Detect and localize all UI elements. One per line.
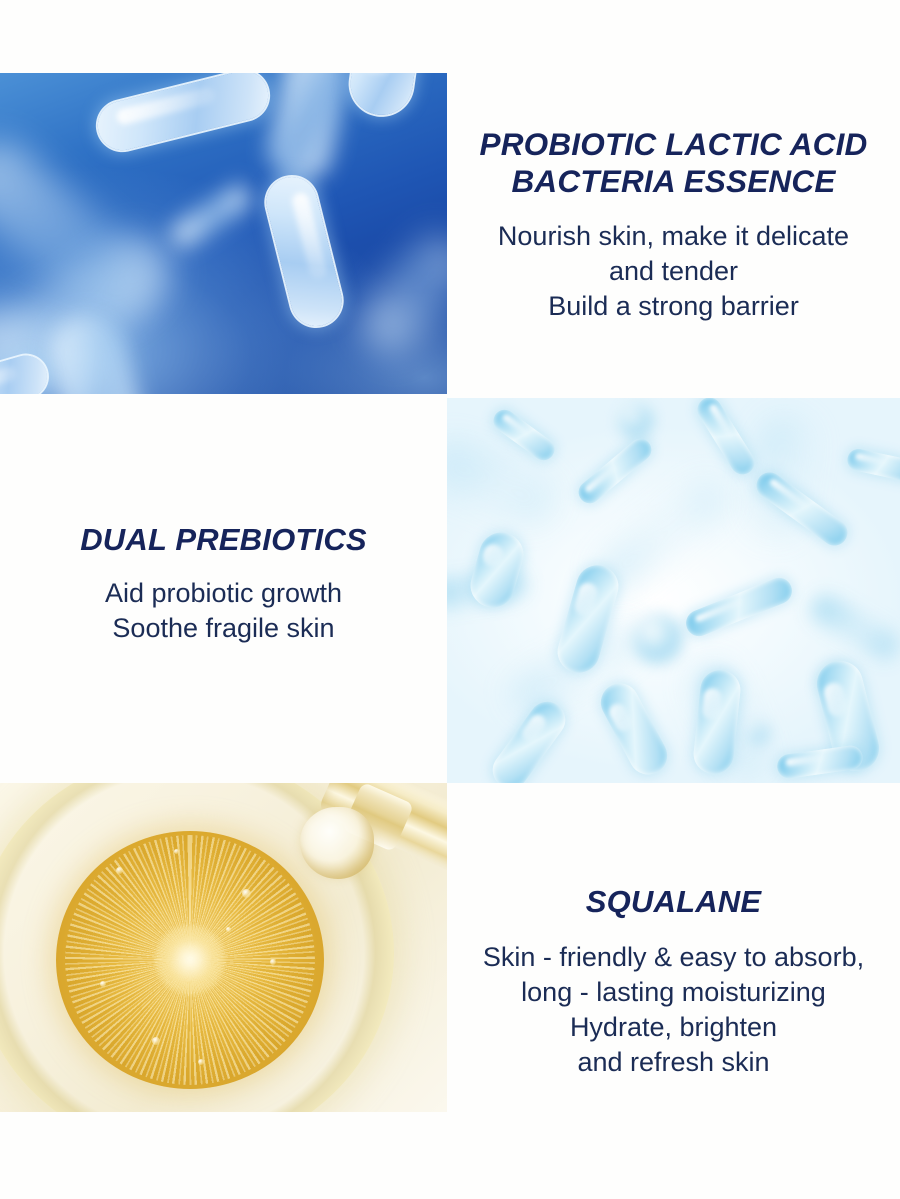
bacteria-rod <box>845 447 900 483</box>
oil-bubble <box>116 867 123 874</box>
squalane-text-block: SQUALANE Skin - friendly & easy to absor… <box>447 884 900 1080</box>
bacteria-rod <box>347 73 420 119</box>
bacteria-blob <box>747 722 769 744</box>
oil-pool <box>56 831 324 1089</box>
oil-center-highlight <box>155 925 225 995</box>
bacteria-rod-blur <box>351 224 447 365</box>
bacteria-rod <box>489 406 559 465</box>
bacteria-rod <box>261 172 347 332</box>
oil-bubble <box>100 981 106 987</box>
prebiotics-bacteria-image <box>447 398 900 783</box>
probiotic-description: Nourish skin, make it delicateand tender… <box>447 219 900 324</box>
bacteria-rod <box>93 73 274 155</box>
bacteria-blob <box>633 614 683 664</box>
probiotic-bacteria-image <box>0 73 447 394</box>
oil-bubble <box>270 959 276 965</box>
bacteria-rod-blur <box>262 73 354 188</box>
oil-bubble <box>198 1059 204 1065</box>
squalane-title: SQUALANE <box>447 884 900 920</box>
bacteria-rod <box>693 398 759 479</box>
oil-bubble <box>152 1037 160 1045</box>
squalane-description: Skin - friendly & easy to absorb,long - … <box>447 940 900 1080</box>
prebiotics-text-block: DUAL PREBIOTICS Aid probiotic growthSoot… <box>0 522 447 646</box>
probiotic-title: PROBIOTIC LACTIC ACIDBACTERIA ESSENCE <box>447 126 900 199</box>
bacteria-blob <box>619 404 653 438</box>
bacteria-rod <box>574 434 656 507</box>
squalane-oil-image <box>0 783 447 1112</box>
bacteria-rod-blur <box>806 590 900 664</box>
oil-bubble <box>242 889 251 898</box>
bacteria-rod <box>465 527 528 612</box>
bacteria-rod <box>594 677 674 781</box>
oil-bubble <box>174 849 179 854</box>
bacteria-rod <box>682 574 796 640</box>
dropper-tip <box>300 807 374 879</box>
infographic-page: PROBIOTIC LACTIC ACIDBACTERIA ESSENCE No… <box>0 0 900 1199</box>
probiotic-text-block: PROBIOTIC LACTIC ACIDBACTERIA ESSENCE No… <box>447 126 900 324</box>
bacteria-rod <box>776 744 865 780</box>
oil-bubble <box>226 927 231 932</box>
prebiotics-description: Aid probiotic growthSoothe fragile skin <box>0 576 447 646</box>
prebiotics-title: DUAL PREBIOTICS <box>0 522 447 558</box>
bacteria-rod-blur <box>166 180 255 252</box>
